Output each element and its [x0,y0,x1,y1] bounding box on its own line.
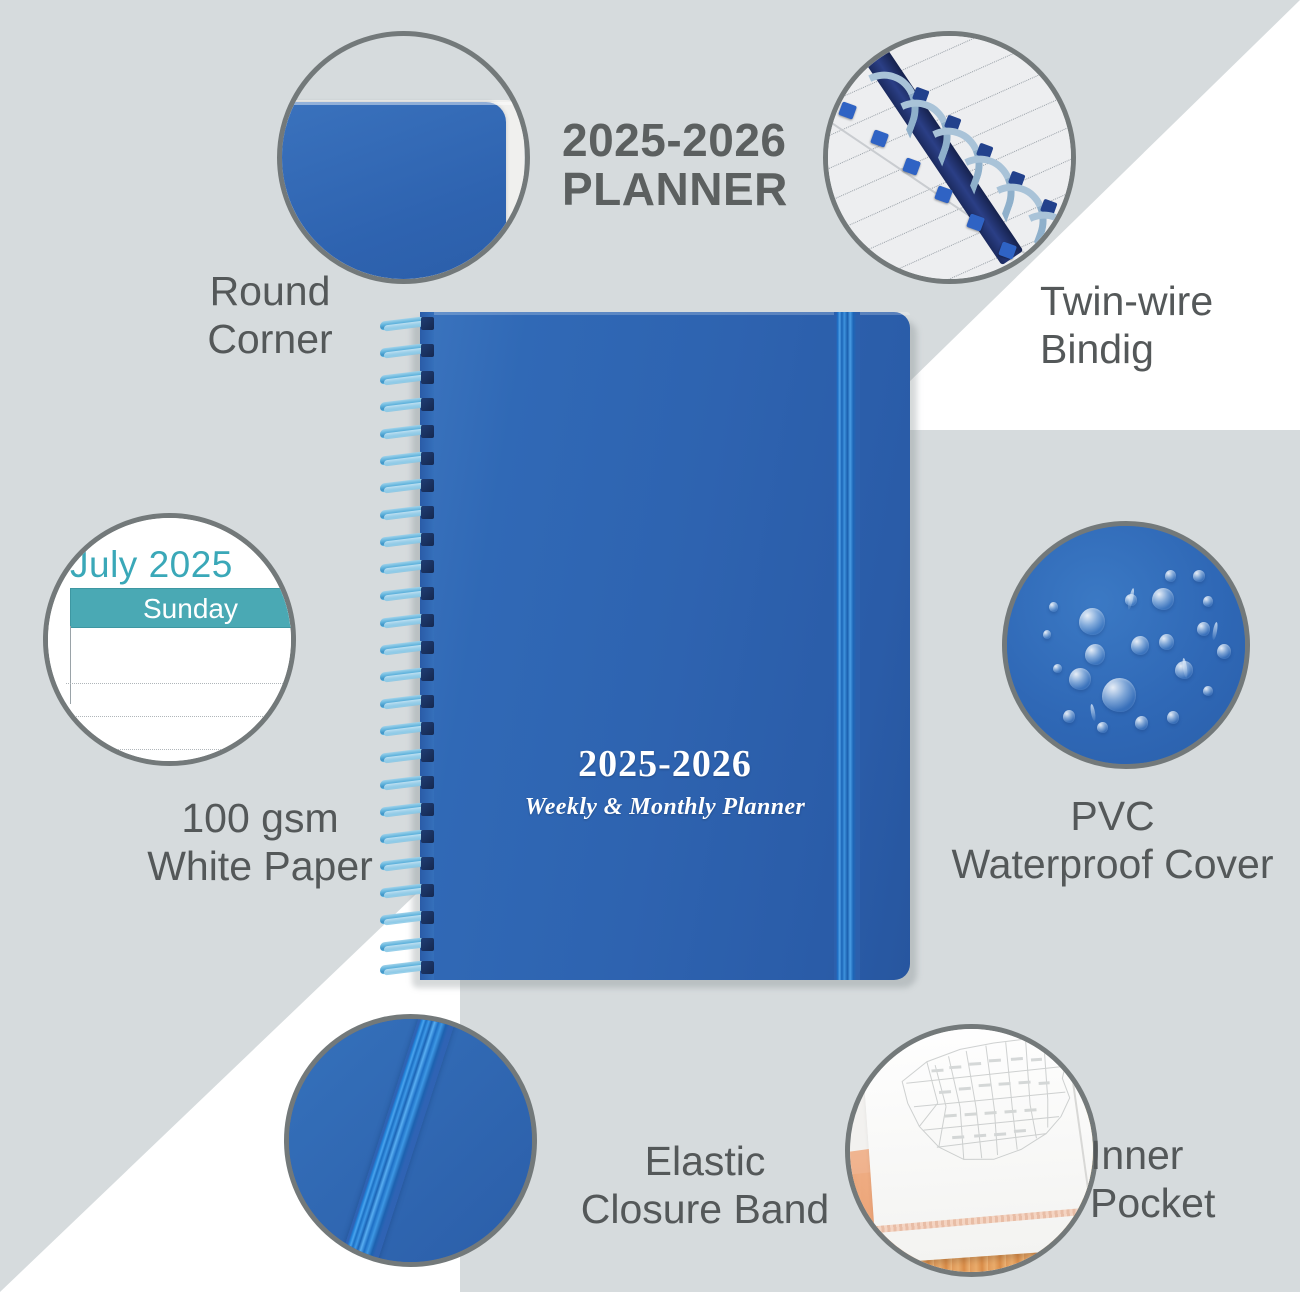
calendar-day-header-band: Sunday [70,588,296,628]
planner-product-image: 2025-2026 Weekly & Monthly Planner [402,312,910,984]
product-infographic: 2025-2026 PLANNER Round Corner Twi [0,0,1300,1292]
calendar-month-title: July 2025 [70,544,233,586]
headline-line-1: 2025-2026 [562,114,786,166]
round-corner-cover [277,102,506,284]
feature-label-twin-wire: Twin-wire Bindig [1040,278,1300,374]
planner-cover-text: 2025-2026 Weekly & Monthly Planner [420,742,910,821]
calendar-vertical-rule [70,626,71,704]
headline-line-2: PLANNER [562,163,788,215]
round-corner-highlight [282,102,512,105]
feature-image-white-paper: July 2025 Sunday [43,513,296,766]
feature-label-elastic-band: Elastic Closure Band [550,1138,860,1234]
feature-image-twin-wire [823,31,1076,284]
calendar-day-header-text: Sunday [143,593,238,625]
page-title: 2025-2026 PLANNER [562,116,822,214]
cover-year: 2025-2026 [420,742,910,786]
calendar-sample: July 2025 Sunday [48,518,291,761]
usa-map-icon [888,1024,1090,1199]
planner-elastic-band [834,312,860,980]
feature-image-pvc-cover [1002,521,1250,769]
pvc-surface [1007,526,1245,764]
feature-label-white-paper: 100 gsm White Paper [120,795,400,891]
cover-subtitle: Weekly & Monthly Planner [420,794,910,821]
feature-image-inner-pocket [845,1024,1098,1277]
feature-image-elastic-band [284,1014,537,1267]
feature-label-pvc-cover: PVC Waterproof Cover [925,793,1300,889]
feature-label-round-corner: Round Corner [160,268,380,364]
feature-label-inner-pocket: Inner Pocket [1090,1132,1300,1228]
feature-image-round-corner [277,31,530,284]
